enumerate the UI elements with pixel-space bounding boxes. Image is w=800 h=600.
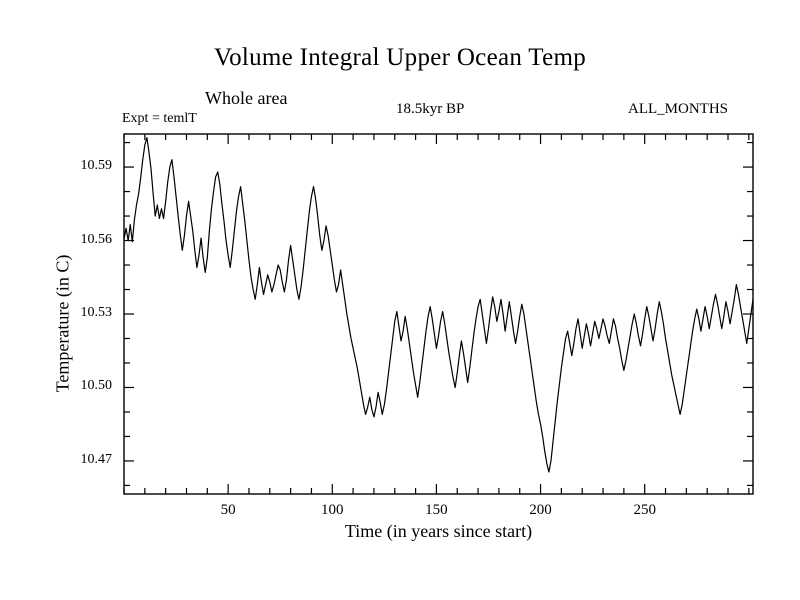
y-tick-label: 10.47 [52,452,112,468]
plot-area [0,0,800,600]
x-tick-label: 150 [406,502,466,519]
plot-frame [124,134,753,494]
axes-frame [124,134,753,494]
y-tick-label: 10.50 [52,378,112,394]
y-tick-label: 10.53 [52,305,112,321]
chart-figure: Volume Integral Upper Ocean Temp Whole a… [0,0,800,600]
data-series [124,138,753,472]
x-tick-label: 100 [302,502,362,519]
axis-ticks [124,134,753,494]
series-line-0 [124,138,753,472]
x-tick-label: 50 [198,502,258,519]
x-tick-label: 250 [615,502,675,519]
y-tick-label: 10.59 [52,158,112,174]
y-tick-label: 10.56 [52,232,112,248]
x-tick-label: 200 [511,502,571,519]
